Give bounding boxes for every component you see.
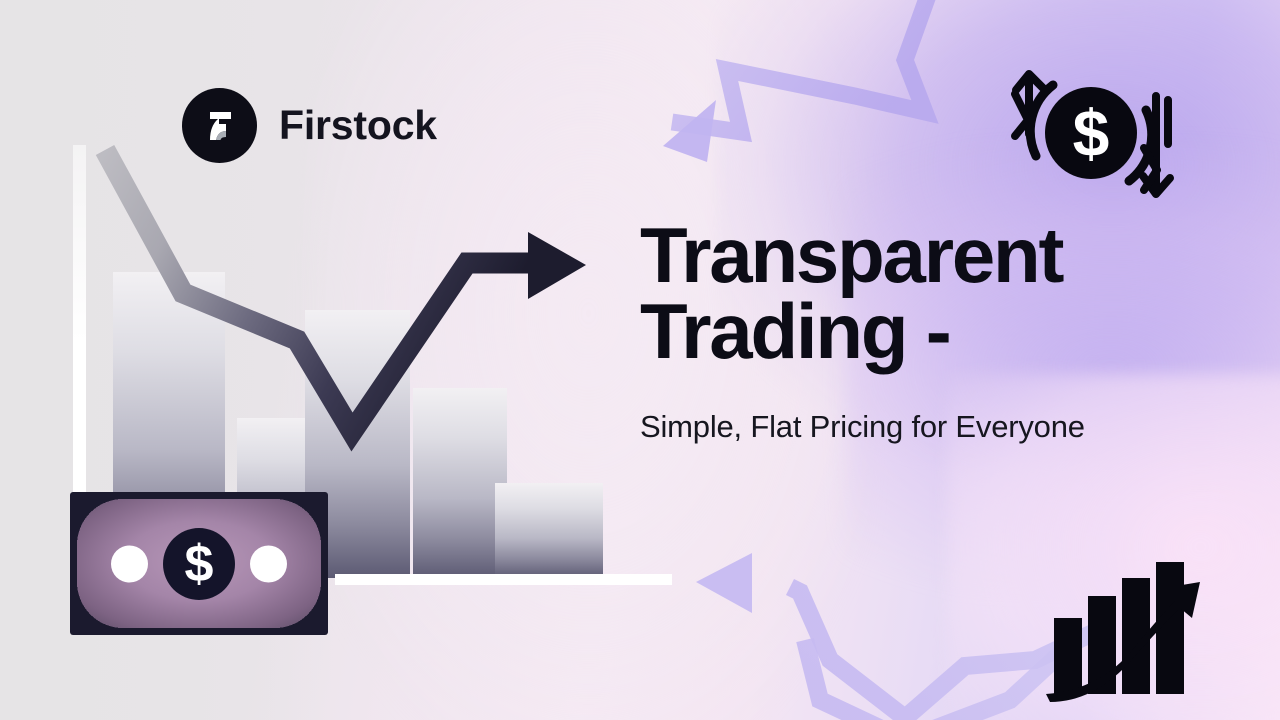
currency-exchange-icon: $ (998, 58, 1178, 213)
hero-banner: $ Firstock Transparent Trading - Simple,… (0, 0, 1280, 720)
dollar-coin-icon: $ (163, 528, 235, 600)
banknote-corner-br (275, 582, 321, 628)
brand-lockup[interactable]: Firstock (182, 88, 437, 163)
banknote-corner-bl (77, 582, 123, 628)
brand-name: Firstock (279, 102, 437, 149)
page-title: Transparent Trading - (640, 218, 1210, 369)
banknote-dot-right (250, 545, 287, 582)
hero-copy: Transparent Trading - Simple, Flat Prici… (640, 218, 1210, 445)
page-subtitle: Simple, Flat Pricing for Everyone (640, 409, 1210, 445)
growth-bar-arrow-icon (1042, 560, 1210, 710)
svg-text:$: $ (1073, 96, 1110, 170)
zigzag-arrow-down-left-icon (663, 0, 930, 162)
banknote-corner-tl (77, 499, 123, 545)
banknote-corner-tr (275, 499, 321, 545)
banknote-face: $ (77, 499, 321, 628)
dollar-banknote: $ (70, 492, 328, 635)
firstock-arrow-logo-icon (182, 88, 257, 163)
chart-x-axis (335, 574, 672, 585)
dollar-symbol: $ (185, 538, 214, 590)
banknote-dot-left (111, 545, 148, 582)
